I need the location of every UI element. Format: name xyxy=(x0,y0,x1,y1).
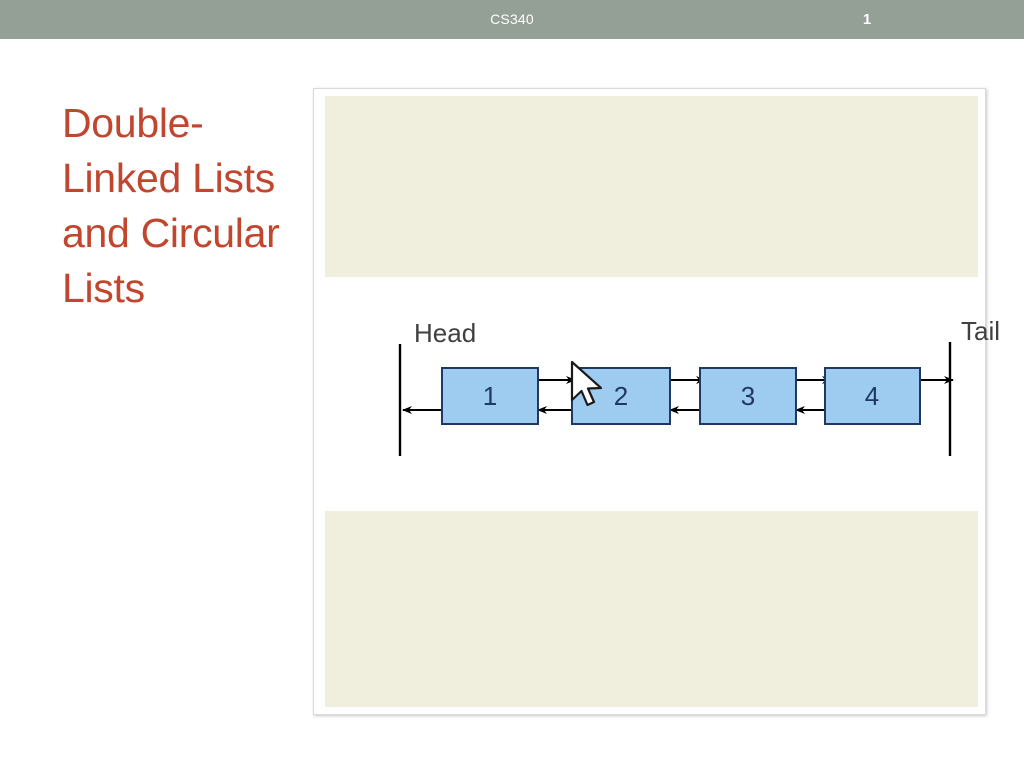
head-label: Head xyxy=(414,318,476,348)
tail-label: Tail xyxy=(961,316,1000,346)
lower-placeholder-block xyxy=(325,511,978,707)
doubly-linked-list-diagram: 1 2 3 4 Head Tail xyxy=(313,288,1024,488)
slide-canvas: CS340 1 Double-Linked Lists and Circular… xyxy=(0,0,1024,768)
page-number-label: 1 xyxy=(845,0,889,39)
page-title: Double-Linked Lists and Circular Lists xyxy=(62,96,292,316)
list-node-1-value: 1 xyxy=(483,381,497,411)
list-node-4-value: 4 xyxy=(865,381,879,411)
list-node-3-value: 3 xyxy=(741,381,755,411)
list-node-2-value: 2 xyxy=(614,381,628,411)
upper-placeholder-block xyxy=(325,96,978,277)
